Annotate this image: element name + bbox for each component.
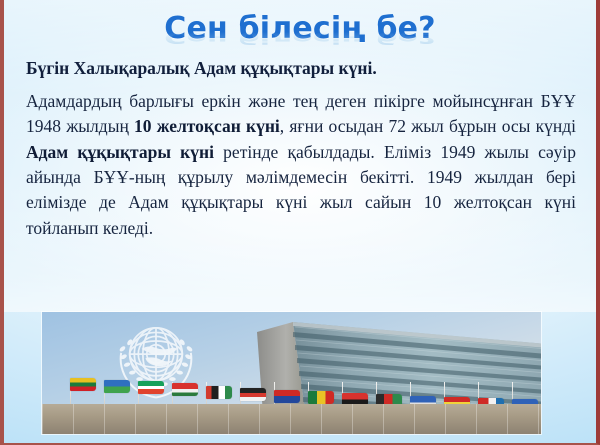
slide-canvas: Сен білесің бе? Сен білесің бе? Бүгін Ха…: [0, 0, 600, 445]
lead-heading: Бүгін Халықаралық Адам құқықтары күні.: [26, 58, 576, 80]
body-paragraph: Адамдардың барлығы еркін және тең деген …: [26, 89, 576, 241]
paragraph-bold-human-rights-day: Адам құқықтары күні: [26, 142, 214, 162]
body-text-block: Бүгін Халықаралық Адам құқықтары күні. А…: [26, 58, 576, 241]
paragraph-part-2: , яғни осыдан 72 жыл бұрын осы күнді: [280, 116, 576, 136]
plaza-wall: [42, 404, 541, 434]
paragraph-bold-date: 10 желтоқсан күні: [134, 116, 280, 136]
un-headquarters-photo: [42, 312, 541, 434]
page-title: Сен білесің бе?: [164, 14, 436, 44]
